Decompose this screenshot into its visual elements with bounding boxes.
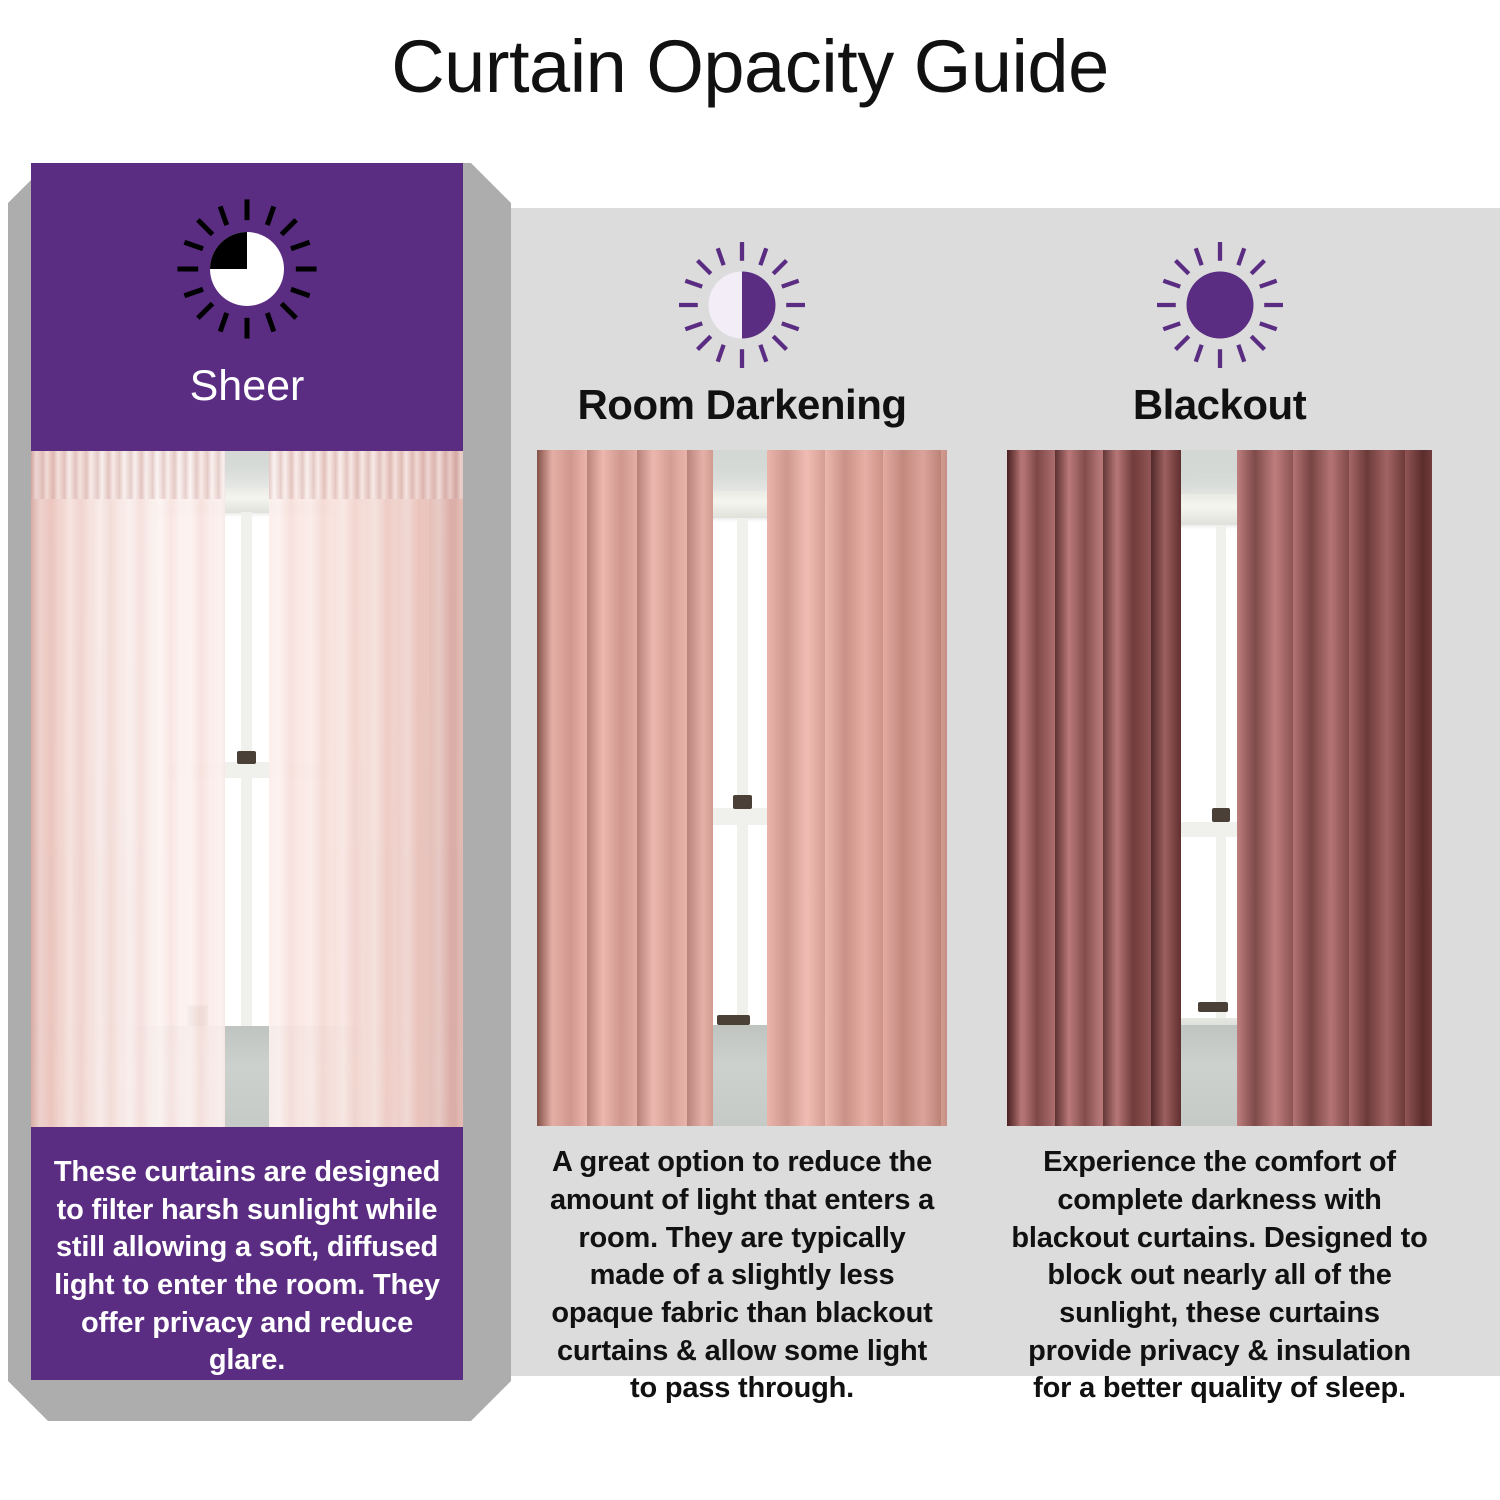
column-caption-room-darkening: A great option to reduce the amount of l… bbox=[537, 1126, 947, 1408]
opacity-card-room-darkening[interactable]: Room Darkening A great option to reduce … bbox=[537, 208, 947, 1408]
curtain-photo-sheer bbox=[31, 451, 463, 1127]
column-label-blackout: Blackout bbox=[1007, 384, 1432, 450]
sun-quarter-shaded-icon bbox=[31, 163, 463, 365]
column-caption-sheer: These curtains are designed to filter ha… bbox=[31, 1127, 463, 1380]
curtain-photo-room-darkening bbox=[537, 450, 947, 1126]
opacity-card-blackout[interactable]: Blackout Experience the comfort of compl… bbox=[1007, 208, 1432, 1408]
sun-half-shaded-icon bbox=[537, 208, 947, 384]
column-label-sheer: Sheer bbox=[31, 365, 463, 451]
column-label-room-darkening: Room Darkening bbox=[537, 384, 947, 450]
column-caption-blackout: Experience the comfort of complete darkn… bbox=[1007, 1126, 1432, 1408]
opacity-card-sheer[interactable]: Sheer These curtains are designed to fil… bbox=[31, 163, 463, 1380]
sun-fully-shaded-icon bbox=[1007, 208, 1432, 384]
page-title: Curtain Opacity Guide bbox=[0, 26, 1500, 107]
curtain-photo-blackout bbox=[1007, 450, 1432, 1126]
